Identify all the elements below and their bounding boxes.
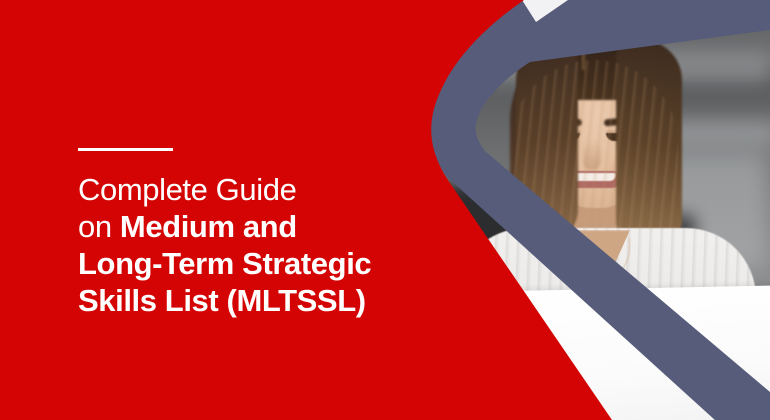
hero-photo (430, 0, 770, 420)
headline-line-4-bold: Skills List (MLTSSL) (78, 283, 366, 318)
person-figure (430, 0, 770, 420)
accent-rule (78, 148, 173, 151)
headline-line-1: Complete Guide (78, 172, 296, 207)
page-title: Complete Guide on Medium and Long-Term S… (78, 171, 371, 319)
laptop-lid (482, 285, 770, 420)
headline-block: Complete Guide on Medium and Long-Term S… (78, 148, 371, 319)
headline-line-2-prefix: on (78, 209, 120, 244)
headline-line-2-bold: Medium and (120, 209, 297, 244)
headline-line-3-bold: Long-Term Strategic (78, 246, 371, 281)
promo-banner: Complete Guide on Medium and Long-Term S… (0, 0, 770, 420)
